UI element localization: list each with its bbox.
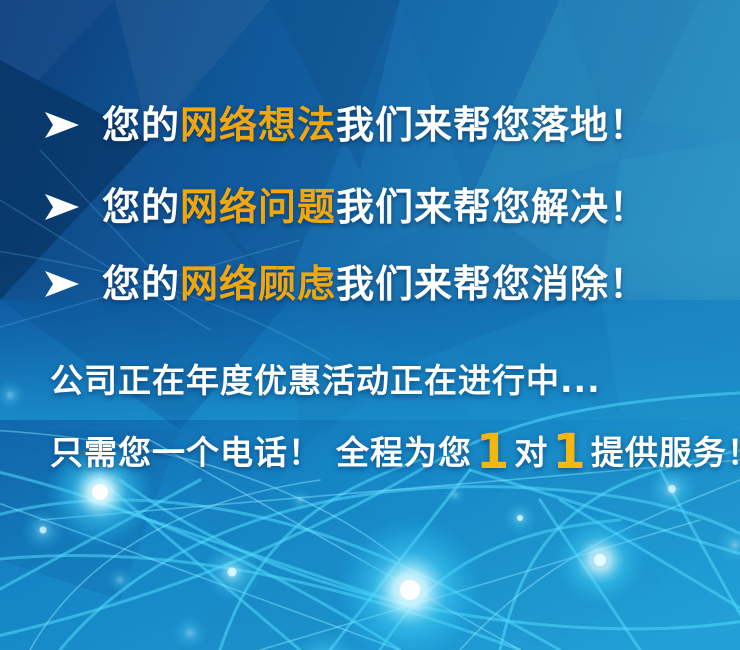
banner-content: 您的网络想法我们来帮您落地！ 您的网络问题我们来帮您解决！ 您的网络顾虑我们来帮… <box>0 0 740 650</box>
bullet-line-2: 您的网络问题我们来帮您解决！ <box>42 188 648 226</box>
headline-1-highlight: 网络想法 <box>180 103 336 147</box>
service-line: 只需您一个电话！全程为您1对1提供服务！ <box>50 428 740 476</box>
bullet-line-3: 您的网络顾虑我们来帮您消除！ <box>42 265 648 303</box>
headline-text-1: 您的网络想法我们来帮您落地！ <box>102 106 648 144</box>
bullet-line-1: 您的网络想法我们来帮您落地！ <box>42 106 648 144</box>
service-line-middle: 对 <box>514 433 548 472</box>
service-line-part2: 全程为您 <box>336 433 472 472</box>
headline-3-suffix: 我们来帮您消除！ <box>336 262 648 306</box>
headline-1-suffix: 我们来帮您落地！ <box>336 103 648 147</box>
right-arrowhead-icon <box>42 190 82 224</box>
headline-text-2: 您的网络问题我们来帮您解决！ <box>102 188 648 226</box>
service-number-first: 1 <box>472 424 514 480</box>
headline-text-3: 您的网络顾虑我们来帮您消除！ <box>102 265 648 303</box>
headline-2-prefix: 您的 <box>102 185 180 229</box>
headline-1-prefix: 您的 <box>102 103 180 147</box>
headline-3-prefix: 您的 <box>102 262 180 306</box>
headline-3-highlight: 网络顾虑 <box>180 262 336 306</box>
right-arrowhead-icon <box>42 267 82 301</box>
promo-banner: 您的网络想法我们来帮您落地！ 您的网络问题我们来帮您解决！ 您的网络顾虑我们来帮… <box>0 0 740 650</box>
headline-2-suffix: 我们来帮您解决！ <box>336 185 648 229</box>
service-line-part1: 只需您一个电话！ <box>50 433 322 472</box>
service-number-second: 1 <box>548 424 590 480</box>
promo-line: 公司正在年度优惠活动正在进行中... <box>50 364 601 397</box>
headline-2-highlight: 网络问题 <box>180 185 336 229</box>
right-arrowhead-icon <box>42 108 82 142</box>
service-line-part3: 提供服务！ <box>591 433 740 472</box>
